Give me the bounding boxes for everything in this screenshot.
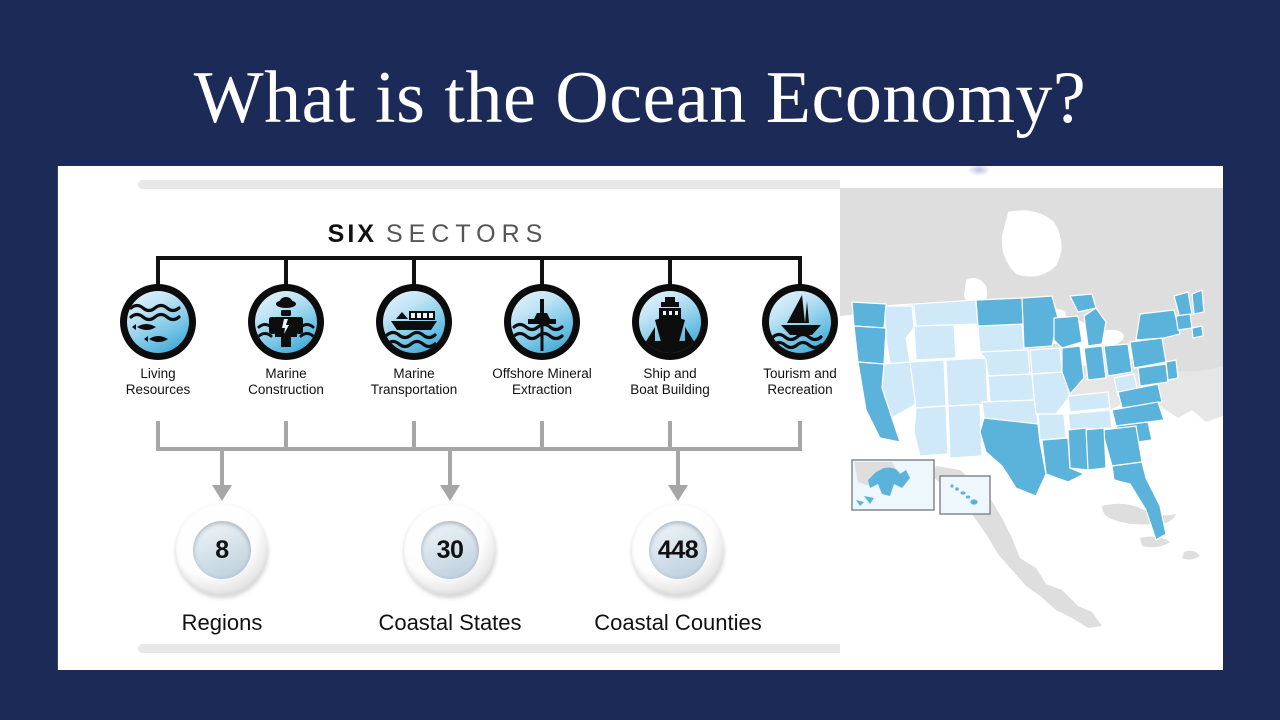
sector-label: Marine Construction	[222, 366, 350, 398]
sailboat-icon	[762, 284, 838, 360]
sector-label-line1: Marine	[393, 366, 434, 381]
badge-core: 8	[193, 521, 251, 579]
badge-value: 8	[215, 536, 228, 565]
oil-rig-icon	[504, 284, 580, 360]
sector-label: Marine Transportation	[350, 366, 478, 398]
total-regions[interactable]: 8 Regions	[122, 504, 322, 636]
badge-core: 30	[421, 521, 479, 579]
sector-label-line2: Recreation	[767, 382, 832, 397]
sector-label: Living Resources	[94, 366, 222, 398]
alaska-inset	[852, 460, 934, 510]
badge-circle: 30	[404, 504, 496, 596]
bracket-riser-5	[668, 421, 672, 447]
fish-waves-icon	[120, 284, 196, 360]
badge-label: Regions	[122, 610, 322, 636]
bracket-riser-4	[540, 421, 544, 447]
badge-label: Coastal States	[350, 610, 550, 636]
heading-sectors: SECTORS	[386, 220, 548, 248]
slide-root: What is the Ocean Economy? SIXSECTORS	[0, 0, 1280, 720]
sector-item-ship-and-boat-building[interactable]: Ship and Boat Building	[606, 284, 734, 398]
six-sectors-heading: SIXSECTORS	[58, 220, 818, 249]
sector-label-line1: Ship and	[643, 366, 696, 381]
map-graphic	[840, 166, 1223, 670]
sector-label-line1: Offshore Mineral	[492, 366, 592, 381]
sector-label-line2: Transportation	[371, 382, 458, 397]
sector-item-offshore-mineral-extraction[interactable]: Offshore Mineral Extraction	[478, 284, 606, 398]
total-coastal-states[interactable]: 30 Coastal States	[350, 504, 550, 636]
bracket-riser-3	[412, 421, 416, 447]
totals-bracket	[156, 421, 802, 451]
sector-label: Ship and Boat Building	[606, 366, 734, 398]
sector-label-line2: Extraction	[512, 382, 572, 397]
totals-row: 8 Regions 30 Coastal States	[58, 504, 818, 654]
bracket-horizontal-bar	[156, 256, 802, 260]
sector-item-living-resources[interactable]: Living Resources	[94, 284, 222, 398]
badge-label: Coastal Counties	[578, 610, 778, 636]
sector-item-marine-construction[interactable]: Marine Construction	[222, 284, 350, 398]
badge-value: 448	[658, 536, 698, 565]
container-ship-icon	[376, 284, 452, 360]
construction-worker-icon	[248, 284, 324, 360]
arrow-to-regions	[220, 451, 224, 485]
page-title: What is the Ocean Economy?	[0, 52, 1280, 144]
badge-circle: 448	[632, 504, 724, 596]
sector-label-line1: Living	[140, 366, 175, 381]
arrow-to-coastal-states	[448, 451, 452, 485]
six-sectors-infographic: SIXSECTORS	[58, 166, 868, 670]
sector-label-line1: Marine	[265, 366, 306, 381]
badge-circle: 8	[176, 504, 268, 596]
content-panel: SIXSECTORS	[58, 166, 1223, 670]
badge-value: 30	[437, 536, 464, 565]
heading-six: SIX	[328, 220, 377, 248]
bracket-riser-1	[156, 421, 160, 447]
arrow-to-coastal-counties	[676, 451, 680, 485]
hawaii-inset	[940, 476, 990, 514]
bracket-riser-6	[798, 421, 802, 447]
sector-item-marine-transportation[interactable]: Marine Transportation	[350, 284, 478, 398]
sector-label: Offshore Mineral Extraction	[478, 366, 606, 398]
totals-bracket-bar	[156, 447, 802, 451]
badge-core: 448	[649, 521, 707, 579]
total-coastal-counties[interactable]: 448 Coastal Counties	[578, 504, 778, 636]
sector-label-line2: Resources	[126, 382, 191, 397]
sector-label-line2: Construction	[248, 382, 324, 397]
sector-icons-row: Living Resources	[58, 284, 818, 409]
sector-label-line2: Boat Building	[630, 382, 710, 397]
ship-bow-icon	[632, 284, 708, 360]
united-states-coastal-states-map	[840, 166, 1223, 670]
image-artifact	[968, 166, 990, 176]
sector-label-line1: Tourism and	[763, 366, 837, 381]
bracket-riser-2	[284, 421, 288, 447]
